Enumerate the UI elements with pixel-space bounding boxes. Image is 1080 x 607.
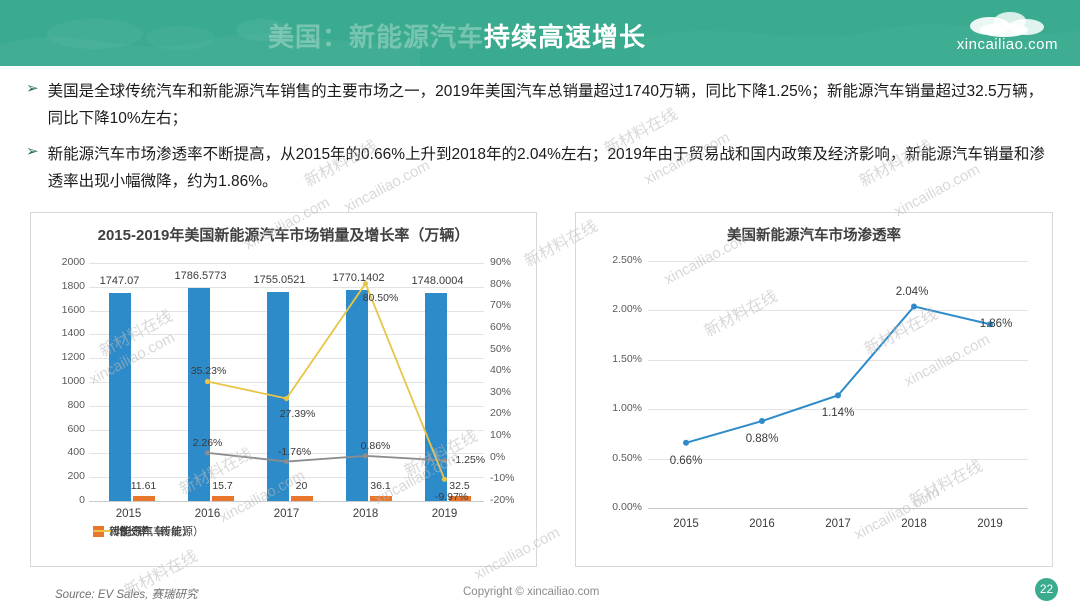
bar-traditional [188,288,210,501]
bar-label-traditional: 1748.0004 [412,275,460,287]
chart-panel-sales: 2015-2019年美国新能源汽车市场销量及增长率（万辆） 0200400600… [30,212,537,567]
page-number: 22 [1035,578,1058,601]
point-label: 1.86% [970,318,1022,330]
y2-axis-tick: 80% [490,278,530,290]
bullet-list: ➢ 美国是全球传统汽车和新能源汽车销售的主要市场之一，2019年美国汽车总销量超… [26,78,1058,204]
source-note: Source: EV Sales, 赛瑞研究 [55,586,198,602]
y2-axis-tick: 40% [490,364,530,376]
x-axis-tick: 2015 [656,518,716,530]
bullet-arrow-icon: ➢ [26,141,39,163]
y-axis-tick: 1.50% [596,353,642,365]
bar-label-nev: 20 [277,480,327,492]
line-label-traditional: -1.76% [269,446,321,458]
penetration-line [576,213,1052,566]
y2-axis-tick: 0% [490,451,530,463]
bullet-text: 新能源汽车市场渗透率不断提高，从2015年的0.66%上升到2018年的2.04… [48,141,1058,195]
copyright-note: Copyright © xincailiao.com [463,586,599,598]
x-axis-tick: 2015 [101,508,157,520]
grid-line [648,310,1028,311]
x-axis-tick: 2019 [960,518,1020,530]
legend-item: 增长率（新能源） [93,523,204,539]
bar-traditional [109,293,131,501]
chart-plot-left: 0200400600800100012001400160018002000-20… [31,213,536,566]
x-axis-tick: 2017 [808,518,868,530]
line-label-nev: 27.39% [271,408,325,420]
y-axis-tick: 1200 [45,351,85,363]
y2-axis-tick: 30% [490,386,530,398]
y2-axis-tick: -10% [490,472,530,484]
bar-label-nev: 15.7 [198,480,248,492]
x-axis-tick: 2016 [732,518,792,530]
y-axis-tick: 600 [45,423,85,435]
line-label-nev: 80.50% [354,292,408,304]
grid-line [648,360,1028,361]
x-axis-tick: 2016 [180,508,236,520]
line-label-nev: 35.23% [182,365,236,377]
brand-text: xincailiao.com [957,36,1058,53]
y-axis-tick: 200 [45,470,85,482]
legend-swatch [93,530,111,532]
bar-label-nev: 11.61 [119,480,169,492]
brand-logo: xincailiao.com [957,8,1058,53]
y-axis-tick: 400 [45,446,85,458]
y-axis-tick: 0.50% [596,452,642,464]
bar-label-traditional: 1786.5773 [175,270,223,282]
x-axis-tick: 2018 [884,518,944,530]
chart-panel-penetration: 美国新能源汽车市场渗透率 0.00%0.50%1.00%1.50%2.00%2.… [575,212,1053,567]
x-axis-tick: 2018 [338,508,394,520]
y-axis-tick: 0.00% [596,501,642,513]
y2-axis-tick: 90% [490,256,530,268]
bar-traditional [425,293,447,501]
x-axis-line [648,508,1028,509]
bullet-item: ➢ 新能源汽车市场渗透率不断提高，从2015年的0.66%上升到2018年的2.… [26,141,1058,195]
y-axis-tick: 1600 [45,304,85,316]
page-title: 美国：新能源汽车持续高速增长 [268,17,646,54]
x-axis-line [89,501,484,502]
bullet-item: ➢ 美国是全球传统汽车和新能源汽车销售的主要市场之一，2019年美国汽车总销量超… [26,78,1058,132]
bullet-arrow-icon: ➢ [26,78,39,100]
bar-label-traditional: 1755.0521 [254,274,302,286]
bar-label-nev: 32.5 [435,480,485,492]
y-axis-tick: 0 [45,494,85,506]
y2-axis-tick: 20% [490,407,530,419]
bullet-text: 美国是全球传统汽车和新能源汽车销售的主要市场之一，2019年美国汽车总销量超过1… [48,78,1058,132]
line-label-traditional: 0.86% [350,440,402,452]
grid-line [648,261,1028,262]
bar-label-nev: 36.1 [356,480,406,492]
bar-traditional [267,292,289,501]
point-label: 0.88% [736,433,788,445]
line-label-traditional: -1.25% [443,454,495,466]
y2-axis-tick: 10% [490,429,530,441]
y-axis-tick: 1400 [45,327,85,339]
y-axis-tick: 1800 [45,280,85,292]
y2-axis-tick: -20% [490,494,530,506]
y-axis-tick: 2.50% [596,254,642,266]
point-label: 1.14% [812,407,864,419]
bar-label-traditional: 1747.07 [96,275,144,287]
y-axis-tick: 2.00% [596,303,642,315]
cloud-logo-icon [964,8,1050,38]
y-axis-tick: 800 [45,399,85,411]
y-axis-tick: 1000 [45,375,85,387]
legend-label: 增长率（新能源） [116,523,204,539]
page-title-faded: 美国：新能源汽车 [268,22,484,52]
point-label: 0.66% [660,455,712,467]
bar-traditional [346,290,368,501]
grid-line [89,263,484,264]
x-axis-tick: 2017 [259,508,315,520]
chart-plot-right: 0.00%0.50%1.00%1.50%2.00%2.50%2015201620… [576,213,1052,566]
x-axis-tick: 2019 [417,508,473,520]
bar-label-traditional: 1770.1402 [333,272,381,284]
y2-axis-tick: 70% [490,299,530,311]
line-label-traditional: 2.26% [182,437,234,449]
slide-header: 美国：新能源汽车持续高速增长 xincailiao.com [0,0,1080,66]
page-title-main: 持续高速增长 [484,22,646,52]
y2-axis-tick: 60% [490,321,530,333]
y-axis-tick: 1.00% [596,402,642,414]
y-axis-tick: 2000 [45,256,85,268]
y2-axis-tick: 50% [490,343,530,355]
point-label: 2.04% [886,286,938,298]
